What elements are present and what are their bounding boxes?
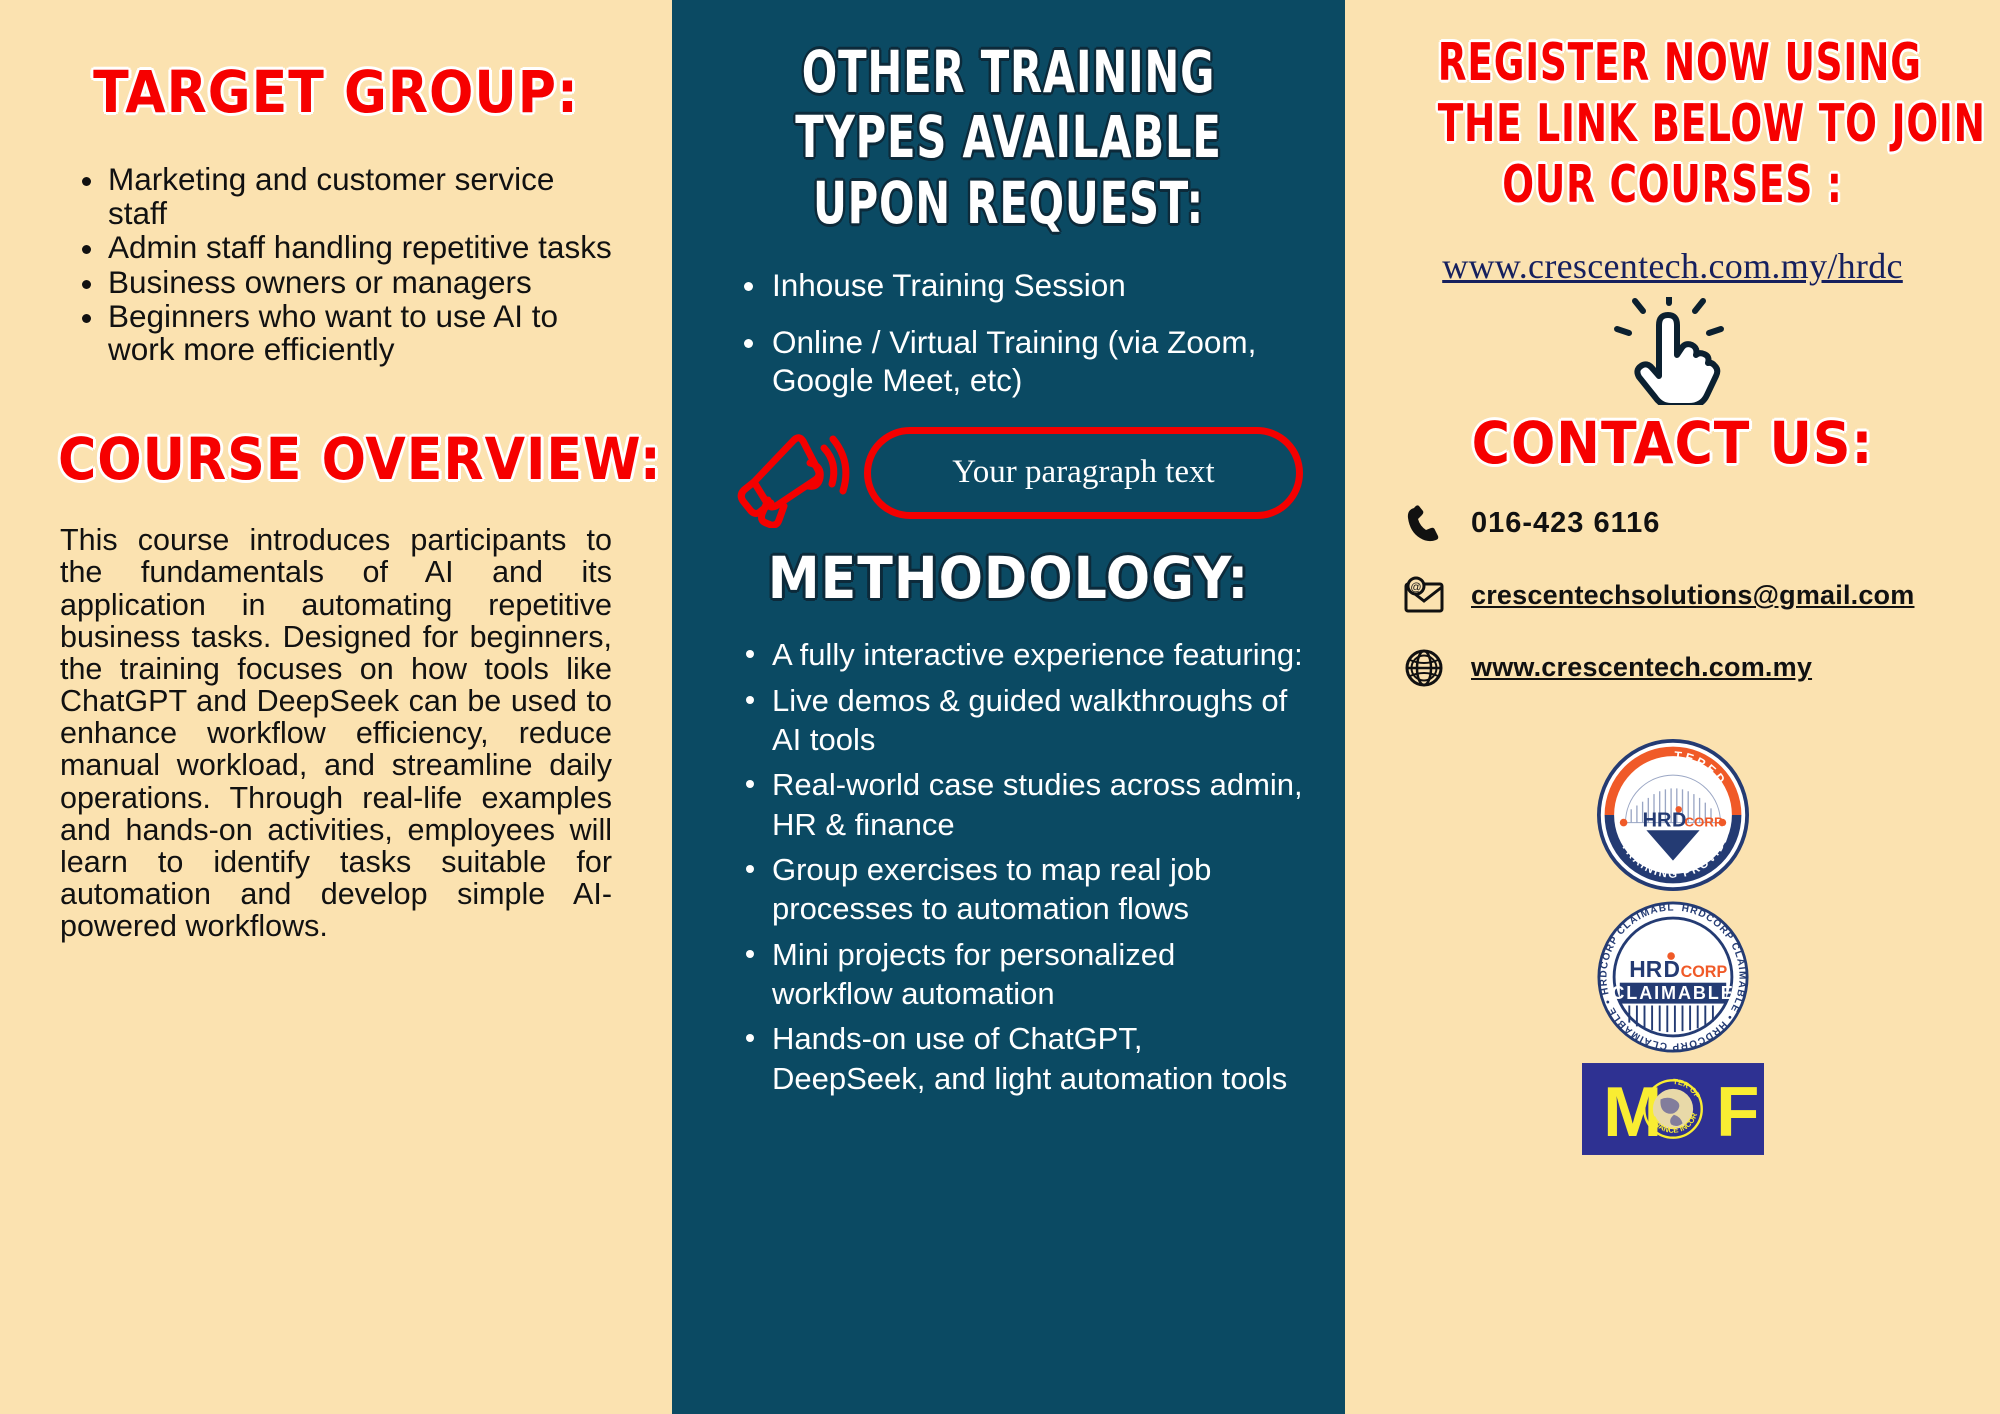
methodology-title: METHODOLOGY:: [714, 548, 1303, 609]
contact-us-title-text: CONTACT US:: [1472, 409, 1874, 477]
list-item: Real-world case studies across admin, HR…: [724, 765, 1303, 844]
hrd-corp-registered-training-provider-badge: HR D CORP REGISTERED TRAINING PROVIDER: [1597, 739, 1749, 891]
list-item: Group exercises to map real job processe…: [724, 850, 1303, 929]
list-item: A fully interactive experience featuring…: [724, 635, 1303, 674]
list-item: Admin staff handling repetitive tasks: [64, 231, 614, 264]
svg-text:@: @: [1410, 581, 1421, 593]
accreditation-logos: HR D CORP REGISTERED TRAINING PROVIDER: [1379, 739, 1966, 1155]
phone-icon: [1401, 501, 1447, 547]
other-training-title-line3: UPON REQUEST:: [773, 173, 1244, 234]
phone-number: 016-423 6116: [1471, 507, 1660, 540]
mof-ministry-of-finance-logo: M F MINISTER OF FINANCE INCORPORATED: [1582, 1063, 1764, 1155]
list-item: Hands-on use of ChatGPT, DeepSeek, and l…: [724, 1019, 1303, 1098]
svg-text:CLAIMABLE: CLAIMABLE: [1611, 983, 1734, 1003]
contact-us-title: CONTACT US:: [1379, 413, 1966, 474]
methodology-title-text: METHODOLOGY:: [768, 544, 1250, 612]
other-training-title: OTHER TRAINING TYPES AVAILABLE UPON REQU…: [714, 42, 1303, 234]
svg-text:HR: HR: [1629, 956, 1662, 982]
paragraph-text-pill: Your paragraph text: [864, 427, 1303, 519]
target-group-title-text: TARGET GROUP:: [93, 58, 579, 126]
methodology-list: A fully interactive experience featuring…: [714, 635, 1303, 1098]
svg-text:HR: HR: [1642, 809, 1671, 831]
click-hand-icon: [1613, 297, 1733, 405]
contact-row-website[interactable]: www.crescentech.com.my: [1401, 645, 1966, 691]
list-item: Inhouse Training Session: [724, 266, 1303, 304]
left-panel: TARGET GROUP: Marketing and customer ser…: [0, 0, 672, 1414]
course-overview-title: COURSE OVERVIEW:: [58, 429, 614, 490]
list-item: Beginners who want to use AI to work mor…: [64, 300, 614, 367]
megaphone-icon: [732, 418, 852, 528]
list-item: Live demos & guided walkthroughs of AI t…: [724, 681, 1303, 760]
course-overview-body: This course introduces participants to t…: [58, 524, 614, 942]
svg-text:D: D: [1663, 956, 1679, 982]
list-item: Online / Virtual Training (via Zoom, Goo…: [724, 323, 1303, 400]
svg-text:F: F: [1716, 1073, 1759, 1152]
pill-text: Your paragraph text: [952, 454, 1214, 491]
brochure-page: TARGET GROUP: Marketing and customer ser…: [0, 0, 2000, 1414]
target-group-list: Marketing and customer service staff Adm…: [58, 163, 614, 366]
course-overview-title-text: COURSE OVERVIEW:: [58, 425, 662, 493]
click-hand-icon-wrap: [1379, 297, 1966, 405]
list-item: Mini projects for personalized workflow …: [724, 935, 1303, 1014]
svg-text:CORP: CORP: [1684, 814, 1723, 829]
promo-row: Your paragraph text: [714, 418, 1303, 528]
website-address: www.crescentech.com.my: [1471, 652, 1812, 683]
middle-panel: OTHER TRAINING TYPES AVAILABLE UPON REQU…: [672, 0, 1345, 1414]
register-title-line2: The Link Below To Join: [1438, 97, 1908, 152]
register-title-line1: Register Now Using: [1438, 36, 1908, 91]
other-training-title-line2: TYPES AVAILABLE: [773, 107, 1244, 168]
other-training-title-line1: OTHER TRAINING: [773, 42, 1244, 103]
globe-icon: [1401, 645, 1447, 691]
other-training-list: Inhouse Training Session Online / Virtua…: [714, 266, 1303, 399]
right-panel: Register Now Using The Link Below To Joi…: [1345, 0, 2000, 1414]
contact-row-email[interactable]: @ crescentechsolutions@gmail.com: [1401, 573, 1966, 619]
svg-text:CORP: CORP: [1680, 963, 1727, 981]
email-address: crescentechsolutions@gmail.com: [1471, 580, 1914, 611]
register-url-link[interactable]: www.crescentech.com.my/hrdc: [1442, 245, 1903, 287]
target-group-title: TARGET GROUP:: [58, 62, 614, 123]
email-icon: @: [1401, 573, 1447, 619]
list-item: Marketing and customer service staff: [64, 163, 614, 230]
list-item: Business owners or managers: [64, 266, 614, 299]
contact-list: 016-423 6116 @ crescentechsolutions@gmai…: [1379, 501, 1966, 691]
hrd-corp-claimable-badge: HRDCORP CLAIMABLE • HRDCORP CLAIMABLE • …: [1597, 901, 1749, 1053]
register-title: Register Now Using The Link Below To Joi…: [1379, 36, 1966, 213]
contact-row-phone[interactable]: 016-423 6116: [1401, 501, 1966, 547]
register-title-line3: Our Courses :: [1438, 158, 1908, 213]
